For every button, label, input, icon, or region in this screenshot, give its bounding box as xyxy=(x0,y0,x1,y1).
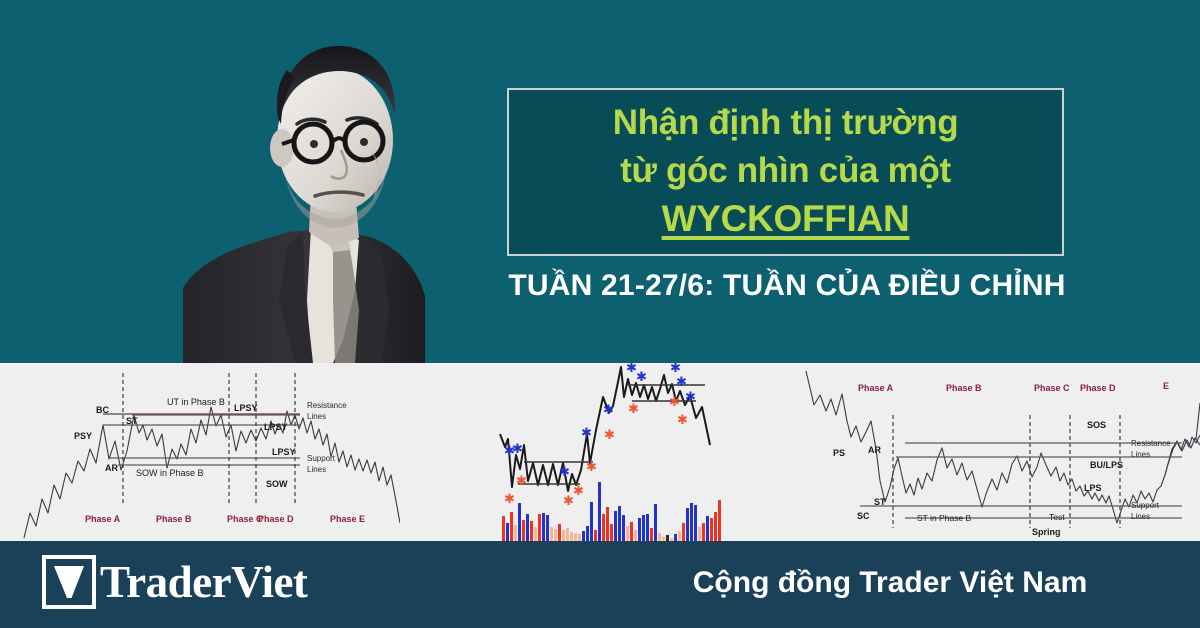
label-ar: AR xyxy=(105,463,118,473)
label-st: ST xyxy=(126,416,138,426)
label-support: Support xyxy=(307,454,336,463)
bear-markers: ✱ ✱ ✱ ✱ ✱ ✱ ✱ ✱ ✱ xyxy=(504,395,688,509)
title-line-3-wyckoffian: WYCKOFFIAN xyxy=(509,197,1062,241)
label-st: ST xyxy=(874,497,886,507)
label-sow: SOW xyxy=(266,479,288,489)
phase-a-label: Phase A xyxy=(85,514,121,524)
chart-band: PSY BC AR ST UT in Phase B SOW in Phase … xyxy=(0,363,1200,541)
logo-wordmark: TraderViet xyxy=(100,557,307,607)
title-line-1: Nhận định thị trường xyxy=(509,103,1062,143)
svg-text:✱: ✱ xyxy=(573,484,584,499)
label-lpsy-1: LPSY xyxy=(234,403,258,413)
svg-text:✱: ✱ xyxy=(676,375,687,390)
label-psy: PSY xyxy=(74,431,92,441)
volume-bars xyxy=(502,482,721,541)
label-sos: SOS xyxy=(1087,420,1106,430)
phase-b-label: Phase B xyxy=(156,514,192,524)
portrait-image xyxy=(183,0,425,363)
label-sow-phase-b: SOW in Phase B xyxy=(136,468,204,478)
svg-text:✱: ✱ xyxy=(581,426,592,441)
phase-e-label: Phase E xyxy=(330,514,365,524)
label-resistance: Resistance xyxy=(1131,439,1171,448)
label-spring: Spring xyxy=(1032,527,1061,537)
title-box: Nhận định thị trường từ góc nhìn của một… xyxy=(507,88,1064,256)
phase-d-label: Phase D xyxy=(258,514,294,524)
svg-text:✱: ✱ xyxy=(685,390,696,405)
label-bc: BC xyxy=(96,405,109,415)
chart-distribution: PSY BC AR ST UT in Phase B SOW in Phase … xyxy=(0,363,400,541)
label-lpsy-3: LPSY xyxy=(272,447,296,457)
label-lpsy-2: LPSY xyxy=(264,422,288,432)
svg-text:✱: ✱ xyxy=(604,428,615,443)
svg-text:✱: ✱ xyxy=(504,492,515,507)
label-ar: AR xyxy=(868,445,881,455)
phase-a-label: Phase A xyxy=(858,383,894,393)
label-support-lines: Lines xyxy=(307,465,326,474)
chart-price-volume: ✱ ✱ ✱ ✱ ✱ ✱ ✱ ✱ ✱ ✱ ✱ ✱ ✱ ✱ ✱ xyxy=(400,363,800,541)
label-support: Support xyxy=(1131,501,1160,510)
phase-b-label: Phase B xyxy=(946,383,982,393)
label-test: Test xyxy=(1049,512,1065,522)
svg-text:✱: ✱ xyxy=(669,395,680,410)
phase-c-label: Phase C xyxy=(1034,383,1070,393)
traderviet-logo[interactable]: TraderViet xyxy=(42,555,307,609)
svg-text:✱: ✱ xyxy=(512,442,523,457)
svg-text:✱: ✱ xyxy=(677,413,688,428)
label-lps: LPS xyxy=(1084,483,1102,493)
label-ut-phase-b: UT in Phase B xyxy=(167,397,225,407)
phase-e-label: E xyxy=(1163,381,1169,391)
label-resistance-lines: Lines xyxy=(307,412,326,421)
label-support-lines: Lines xyxy=(1131,512,1150,521)
subtitle: TUẦN 21-27/6: TUẦN CỦA ĐIỀU CHỈNH xyxy=(507,268,1067,304)
chart-accumulation: PS SC AR ST ST in Phase B Spring Test LP… xyxy=(800,363,1200,541)
svg-text:✱: ✱ xyxy=(603,403,614,418)
banner-root: Nhận định thị trường từ góc nhìn của một… xyxy=(0,0,1200,628)
svg-text:✱: ✱ xyxy=(559,465,570,480)
hero-section: Nhận định thị trường từ góc nhìn của một… xyxy=(0,0,1200,363)
label-resistance-lines: Lines xyxy=(1131,450,1150,459)
title-line-2: từ góc nhìn của một xyxy=(509,151,1062,191)
phase-d-label: Phase D xyxy=(1080,383,1116,393)
label-ps: PS xyxy=(833,448,845,458)
footer-tagline: Cộng đồng Trader Việt Nam xyxy=(600,563,1180,603)
label-sc: SC xyxy=(857,511,870,521)
label-bu-lps: BU/LPS xyxy=(1090,460,1123,470)
v-in-square-icon xyxy=(42,555,96,609)
svg-text:✱: ✱ xyxy=(586,460,597,475)
label-st-phase-b: ST in Phase B xyxy=(917,513,972,523)
svg-text:✱: ✱ xyxy=(636,370,647,385)
footer-bar: TraderViet Cộng đồng Trader Việt Nam xyxy=(0,541,1200,628)
svg-text:✱: ✱ xyxy=(516,474,527,489)
svg-text:✱: ✱ xyxy=(628,402,639,417)
label-resistance: Resistance xyxy=(307,401,347,410)
